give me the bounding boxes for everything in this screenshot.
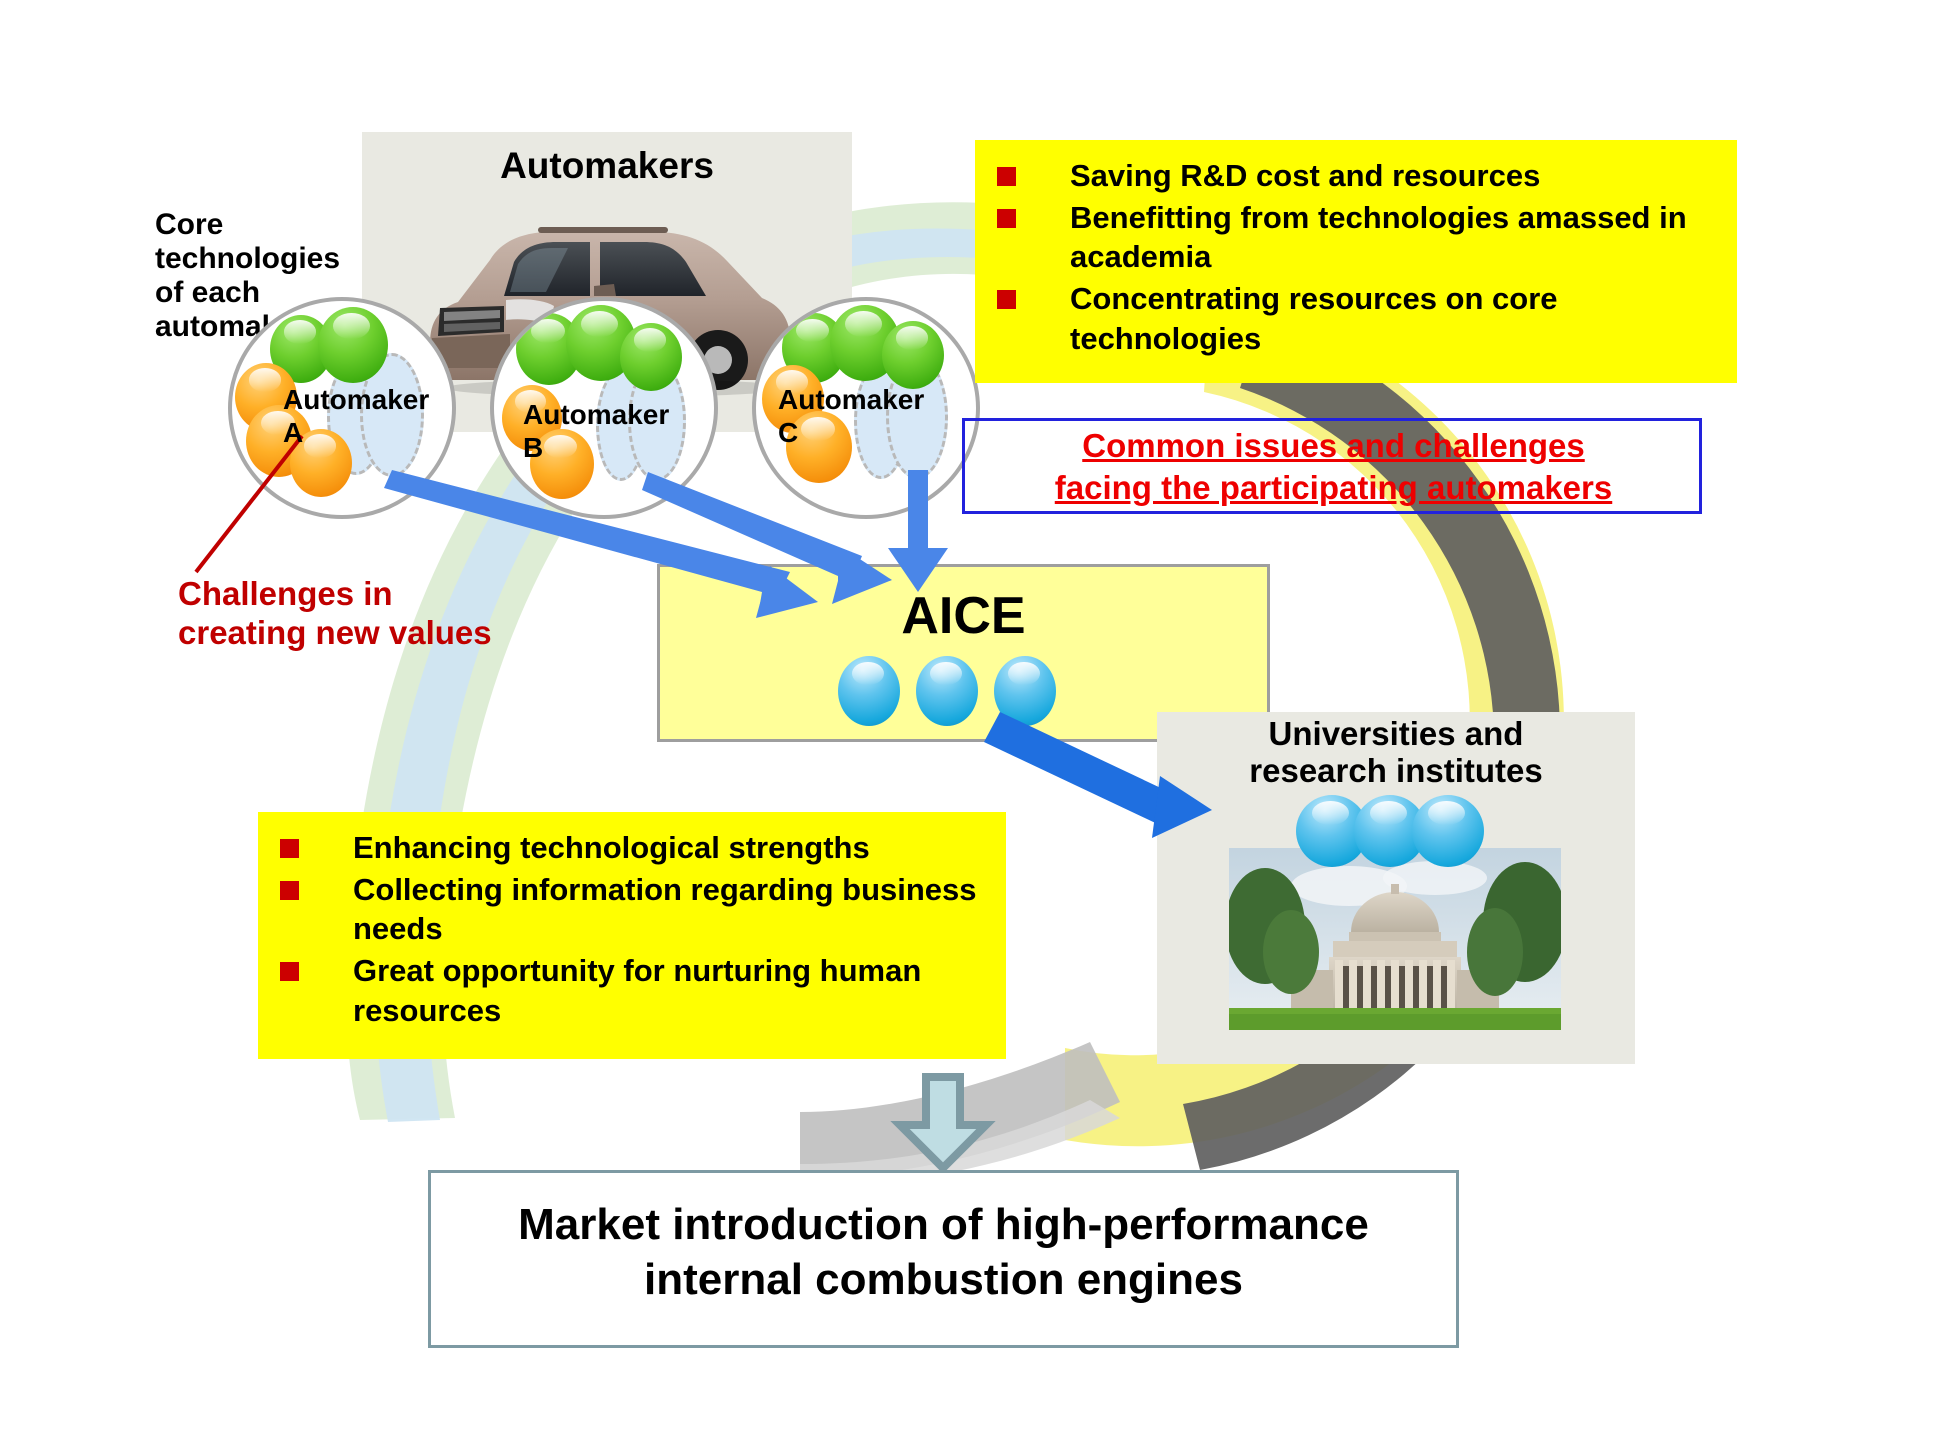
list-item: Benefitting from technologies amassed in…	[997, 198, 1723, 277]
market-line-1: Market introduction of high-performance	[428, 1197, 1459, 1252]
aice-benefit-text: Collecting information regarding busines…	[353, 870, 992, 949]
university-building-photo	[1229, 848, 1561, 1030]
common-issues-heading: Common issues and challenges facing the …	[971, 425, 1696, 509]
challenges-leader-line	[180, 430, 320, 590]
common-issues-line-1: Common issues and challenges	[971, 425, 1696, 467]
aice-benefits-list: Enhancing technological strengths Collec…	[258, 812, 1006, 1059]
blue-tech-ball	[916, 656, 978, 726]
challenges-text: Challenges in creating new values	[178, 575, 598, 652]
automaker-c-label: Automaker C	[778, 383, 924, 449]
list-item: Saving R&D cost and resources	[997, 156, 1723, 196]
challenges-label: Challenges in creating new values	[178, 575, 598, 652]
automakers-panel-title: Automakers	[362, 145, 852, 186]
aice-ball-group	[838, 656, 1088, 726]
market-line-2: internal combustion engines	[428, 1252, 1459, 1307]
benefit-text: Concentrating resources on core technolo…	[1070, 279, 1723, 358]
aice-benefit-text: Great opportunity for nurturing human re…	[353, 951, 992, 1030]
down-arrow-icon	[890, 1073, 996, 1172]
list-item: Concentrating resources on core technolo…	[997, 279, 1723, 358]
red-square-bullet-icon	[280, 839, 299, 858]
blue-tech-ball	[838, 656, 900, 726]
benefit-text: Benefitting from technologies amassed in…	[1070, 198, 1723, 277]
automaker-benefits-box: Saving R&D cost and resources Benefittin…	[975, 140, 1737, 383]
market-introduction-text: Market introduction of high-performance …	[428, 1197, 1459, 1307]
universities-line-1: Universities and	[1150, 716, 1642, 753]
universities-line-2: research institutes	[1150, 753, 1642, 790]
list-item: Great opportunity for nurturing human re…	[280, 951, 992, 1030]
list-item: Enhancing technological strengths	[280, 828, 992, 868]
automaker-benefits-list: Saving R&D cost and resources Benefittin…	[975, 140, 1737, 383]
universities-panel-title: Universities and research institutes	[1150, 716, 1642, 790]
universities-ball-group	[1296, 795, 1506, 867]
red-square-bullet-icon	[997, 209, 1016, 228]
aice-title: AICE	[657, 586, 1270, 646]
aice-benefits-box: Enhancing technological strengths Collec…	[258, 812, 1006, 1059]
red-square-bullet-icon	[280, 881, 299, 900]
red-square-bullet-icon	[997, 167, 1016, 186]
blue-tech-ball	[1412, 795, 1484, 867]
red-square-bullet-icon	[280, 962, 299, 981]
green-tech-ball	[620, 323, 682, 391]
list-item: Collecting information regarding busines…	[280, 870, 992, 949]
common-issues-line-2: facing the participating automakers	[971, 467, 1696, 509]
diagram-canvas: Automakers Core technologies of each aut…	[0, 0, 1954, 1437]
automaker-a-label: Automaker A	[283, 383, 429, 449]
blue-tech-ball	[994, 656, 1056, 726]
green-tech-ball	[318, 307, 388, 383]
aice-benefit-text: Enhancing technological strengths	[353, 828, 870, 868]
benefit-text: Saving R&D cost and resources	[1070, 156, 1540, 196]
red-square-bullet-icon	[997, 290, 1016, 309]
green-tech-ball	[882, 321, 944, 389]
automaker-b-label: Automaker B	[523, 398, 669, 464]
